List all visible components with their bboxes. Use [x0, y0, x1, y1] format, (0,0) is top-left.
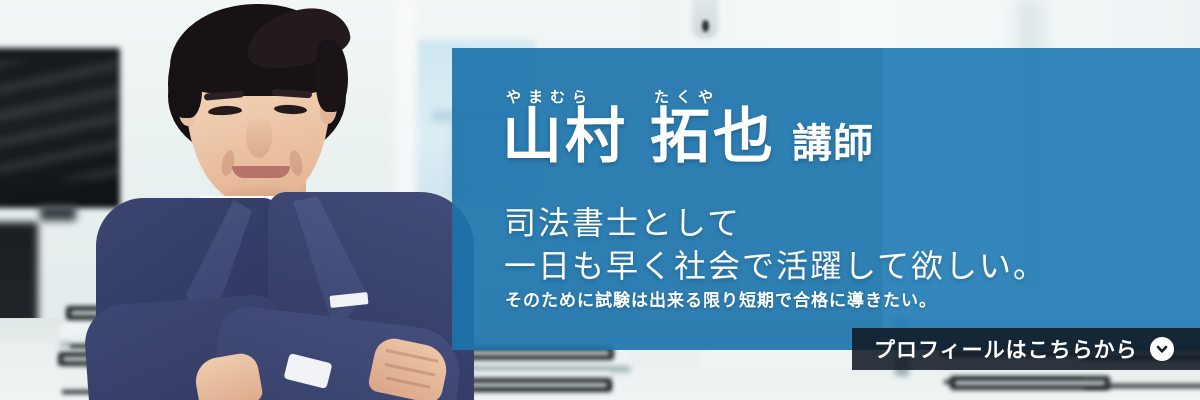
name-title: 講師 — [792, 124, 874, 169]
instructor-name-row: 山村 拓也 講師 — [502, 106, 874, 169]
hair-side-left — [168, 44, 202, 118]
chair — [456, 378, 612, 400]
instructor-profile-banner: やまむら たくや 山村 拓也 講師 司法書士として 一日も早く社会で活躍して欲し… — [0, 0, 1200, 400]
sub-catch-copy: そのために試験は出来る限り短期で合格に導きたい。 — [505, 286, 937, 311]
catch-copy-line-1: 司法書士として — [504, 202, 1047, 245]
nose — [246, 116, 272, 158]
ceiling-camera-icon — [692, 0, 718, 38]
chevron-down-circle-icon — [1150, 337, 1174, 361]
profile-cta-label: プロフィールはこちらから — [874, 334, 1138, 364]
profile-text-block: やまむら たくや 山村 拓也 講師 司法書士として 一日も早く社会で活躍して欲し… — [452, 48, 1200, 350]
instructor-portrait — [0, 0, 470, 400]
name-family: 山村 — [502, 106, 628, 169]
chair — [950, 376, 1110, 400]
name-given: 拓也 — [650, 106, 776, 169]
profile-cta-button[interactable]: プロフィールはこちらから — [852, 328, 1200, 370]
hair-side-right — [316, 40, 348, 112]
ceiling-camera-lens — [702, 20, 709, 32]
catch-copy: 司法書士として 一日も早く社会で活躍して欲しい。 — [504, 202, 1047, 288]
mouth — [232, 166, 290, 178]
catch-copy-line-2: 一日も早く社会で活躍して欲しい。 — [504, 245, 1047, 288]
